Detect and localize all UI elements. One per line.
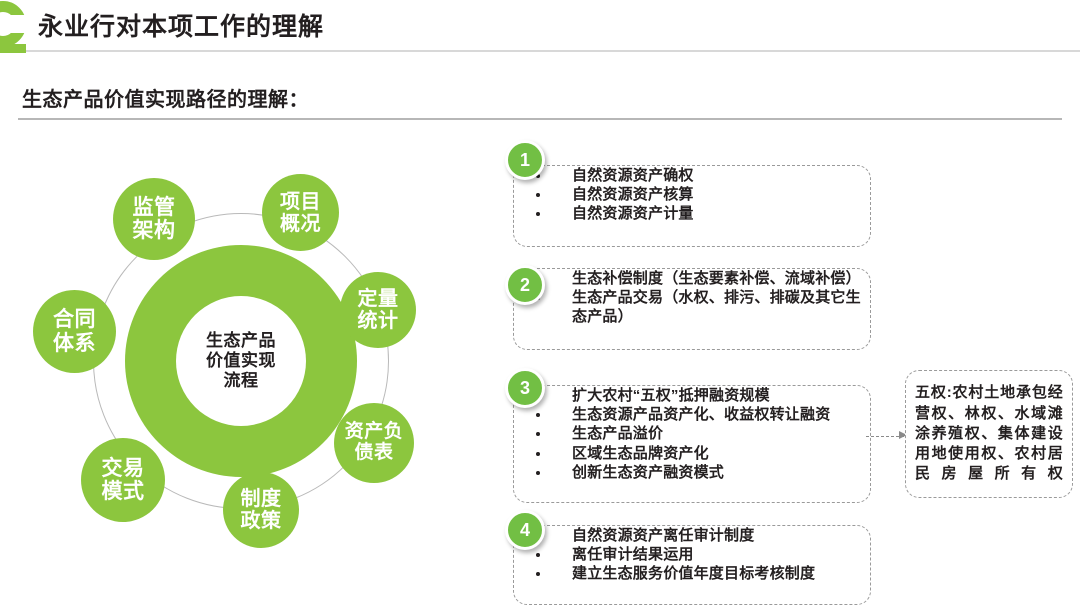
step-1-number-badge[interactable]: 1 [505, 140, 545, 180]
wheel-node-2-line-1: 资产负 [345, 422, 404, 443]
wheel-node-6-line-1: 监管 [133, 196, 176, 219]
list-item: 扩大农村“五权”抵押融资规模 [514, 386, 870, 405]
wheel-node-0-line-1: 项目 [280, 191, 321, 213]
list-item: 自然资源资产离任审计制度 [514, 526, 870, 545]
step-3-bullet-list: 扩大农村“五权”抵押融资规模 生态资源产品资产化、收益权转让融资 生态产品溢价 … [514, 386, 870, 482]
wheel-node-contract-system[interactable]: 合同 体系 [33, 290, 116, 373]
step-1-box: 自然资源资产确权 自然资源资产核算 自然资源资产计量 [513, 165, 871, 247]
header-divider [0, 50, 1080, 52]
wheel-node-trading-model[interactable]: 交易 模式 [81, 438, 165, 522]
list-item: 自然资源资产核算 [514, 185, 870, 204]
list-item: 离任审计结果运用 [514, 545, 870, 564]
wheel-node-3-line-1: 制度 [241, 488, 282, 510]
wheel-node-5-line-2: 体系 [53, 332, 96, 355]
list-item: 区域生态品牌资产化 [514, 444, 870, 463]
side-note-text: 五权:农村土地承包经营权、林权、水域滩涂养殖权、集体建设用地使用权、农村居民房屋… [906, 383, 1072, 484]
list-item: 创新生态资产融资模式 [514, 463, 870, 482]
step-3-number-badge[interactable]: 3 [505, 368, 545, 408]
list-item: 建立生态服务价值年度目标考核制度 [514, 564, 870, 583]
list-item: 自然资源资产确权 [514, 166, 870, 185]
wheel-node-supervision-framework[interactable]: 监管 架构 [113, 178, 195, 260]
steps-panel: 1 自然资源资产确权 自然资源资产核算 自然资源资产计量 2 生态补偿制度（生态… [497, 140, 1080, 610]
header-accent-block [0, 44, 26, 53]
wheel-node-3-line-2: 政策 [241, 510, 282, 532]
wheel-node-6-line-2: 架构 [133, 219, 176, 242]
step-4-number-badge[interactable]: 4 [505, 510, 545, 550]
wheel-node-policy-system[interactable]: 制度 政策 [223, 472, 299, 548]
wheel-node-quantitative-statistics[interactable]: 定量 统计 [340, 272, 416, 348]
step-2-number-badge[interactable]: 2 [505, 265, 545, 305]
slide-header: YYX 永业行对本项工作的理解 [0, 0, 1080, 53]
cycle-diagram: 生态产品 价值实现 流程 项目 概况 定量 统计 资产负 债表 制度 政策 交易… [18, 160, 468, 580]
list-item: 生态产品溢价 [514, 424, 870, 443]
wheel-node-0-line-2: 概况 [280, 213, 321, 235]
step-4-bullet-list: 自然资源资产离任审计制度 离任审计结果运用 建立生态服务价值年度目标考核制度 [514, 526, 870, 584]
section-subtitle: 生态产品价值实现路径的理解： [22, 83, 309, 112]
wheel-node-project-overview[interactable]: 项目 概况 [262, 174, 339, 251]
side-note-box: 五权:农村土地承包经营权、林权、水域滩涂养殖权、集体建设用地使用权、农村居民房屋… [905, 370, 1073, 498]
list-item: 自然资源资产计量 [514, 204, 870, 223]
wheel-center-label: 生态产品 价值实现 流程 [176, 296, 306, 426]
step-2-bullet-list: 生态补偿制度（生态要素补偿、流域补偿） 生态产品交易（水权、排污、排碳及其它生态… [514, 269, 870, 327]
step-4-box: 自然资源资产离任审计制度 离任审计结果运用 建立生态服务价值年度目标考核制度 [513, 525, 871, 605]
page-title: 永业行对本项工作的理解 [38, 7, 324, 43]
step-1-bullet-list: 自然资源资产确权 自然资源资产核算 自然资源资产计量 [514, 166, 870, 224]
step-2-box: 生态补偿制度（生态要素补偿、流域补偿） 生态产品交易（水权、排污、排碳及其它生态… [513, 268, 871, 350]
wheel-center-line-1: 生态产品 [206, 331, 276, 351]
logo-notch-shape [2, 15, 28, 33]
wheel-node-1-line-1: 定量 [358, 288, 399, 310]
list-item: 生态产品交易（水权、排污、排碳及其它生态产品） [514, 288, 870, 326]
wheel-node-1-line-2: 统计 [358, 310, 399, 332]
subtitle-divider [18, 118, 1062, 120]
step-3-box: 扩大农村“五权”抵押融资规模 生态资源产品资产化、收益权转让融资 生态产品溢价 … [513, 385, 871, 503]
wheel-node-4-line-2: 模式 [102, 480, 145, 503]
wheel-node-2-line-2: 债表 [354, 443, 393, 464]
list-item: 生态补偿制度（生态要素补偿、流域补偿） [514, 269, 870, 288]
list-item: 生态资源产品资产化、收益权转让融资 [514, 405, 870, 424]
wheel-node-balance-sheet[interactable]: 资产负 债表 [334, 403, 414, 483]
wheel-center-line-3: 流程 [224, 371, 259, 391]
wheel-center-line-2: 价值实现 [206, 351, 276, 371]
wheel-node-5-line-1: 合同 [53, 308, 96, 331]
wheel-node-4-line-1: 交易 [102, 457, 145, 480]
